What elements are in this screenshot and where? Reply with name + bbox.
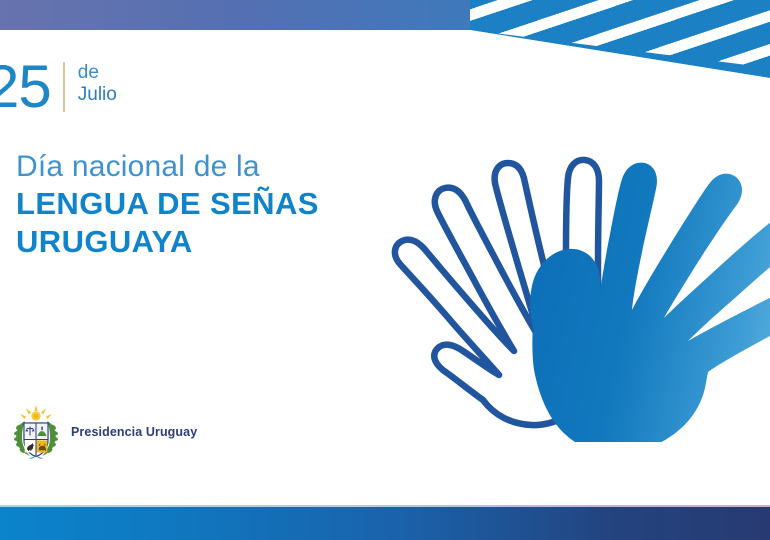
date-preposition: de bbox=[78, 62, 117, 84]
date-month-group: de Julio bbox=[65, 58, 117, 116]
presidencia-logo-label: Presidencia Uruguay bbox=[71, 425, 197, 439]
headline-main-line-1: LENGUA DE SEÑAS bbox=[16, 186, 396, 222]
presidencia-logo-lockup: Presidencia Uruguay bbox=[12, 404, 197, 460]
headline-group: Día nacional de la LENGUA DE SEÑAS URUGU… bbox=[16, 148, 396, 260]
date-block: 25 de Julio bbox=[0, 58, 117, 116]
headline-main-line-2: URUGUAYA bbox=[16, 224, 396, 260]
two-hands-sign-language-icon bbox=[383, 142, 770, 442]
poster-canvas: 25 de Julio Día nacional de la LENGUA DE… bbox=[0, 0, 770, 540]
bottom-gradient-bar bbox=[0, 507, 770, 540]
hands-artwork bbox=[383, 142, 770, 442]
date-month: Julio bbox=[78, 84, 117, 106]
diagonal-stripes-decoration bbox=[470, 0, 770, 78]
headline-subtitle: Día nacional de la bbox=[16, 148, 396, 186]
uruguay-coat-of-arms-icon bbox=[12, 404, 60, 460]
date-day: 25 bbox=[0, 58, 63, 116]
